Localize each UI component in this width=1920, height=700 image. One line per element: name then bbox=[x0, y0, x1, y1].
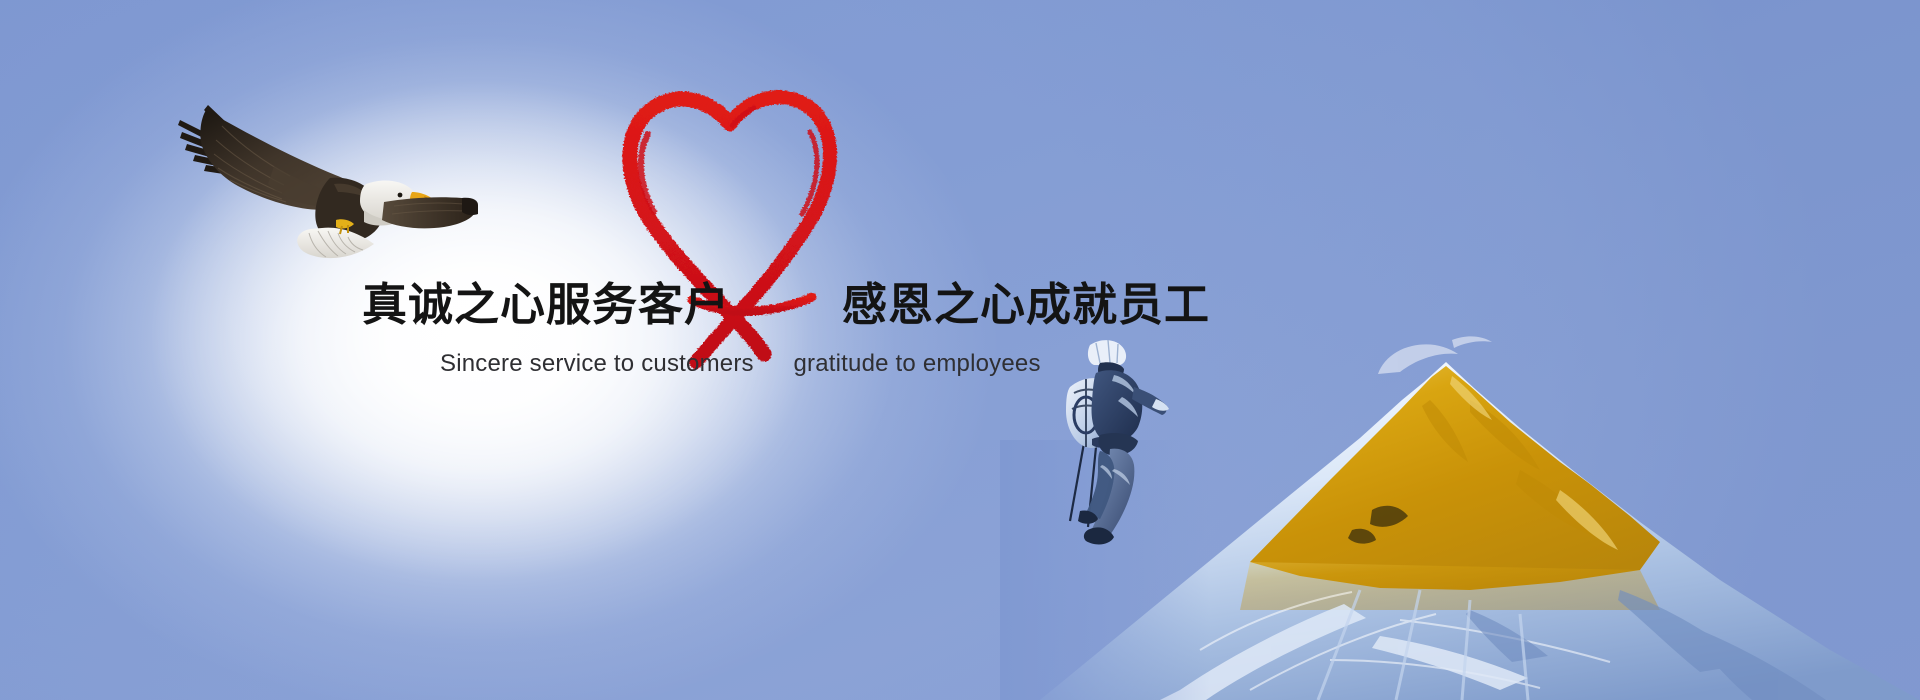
eagle-icon bbox=[178, 92, 478, 307]
subline-right: gratitude to employees bbox=[793, 350, 1040, 377]
corporate-culture-banner: 真诚之心服务客户 感恩之心成就员工 Sincere service to cus… bbox=[0, 0, 1920, 700]
subline-slogan: Sincere service to customers gratitude t… bbox=[440, 348, 1140, 380]
headline-slogan: 真诚之心服务客户 感恩之心成就员工 bbox=[362, 277, 1122, 333]
subline-left: Sincere service to customers bbox=[440, 350, 754, 377]
headline-right: 感恩之心成就员工 bbox=[842, 279, 1210, 331]
headline-left: 真诚之心服务客户 bbox=[362, 279, 730, 331]
